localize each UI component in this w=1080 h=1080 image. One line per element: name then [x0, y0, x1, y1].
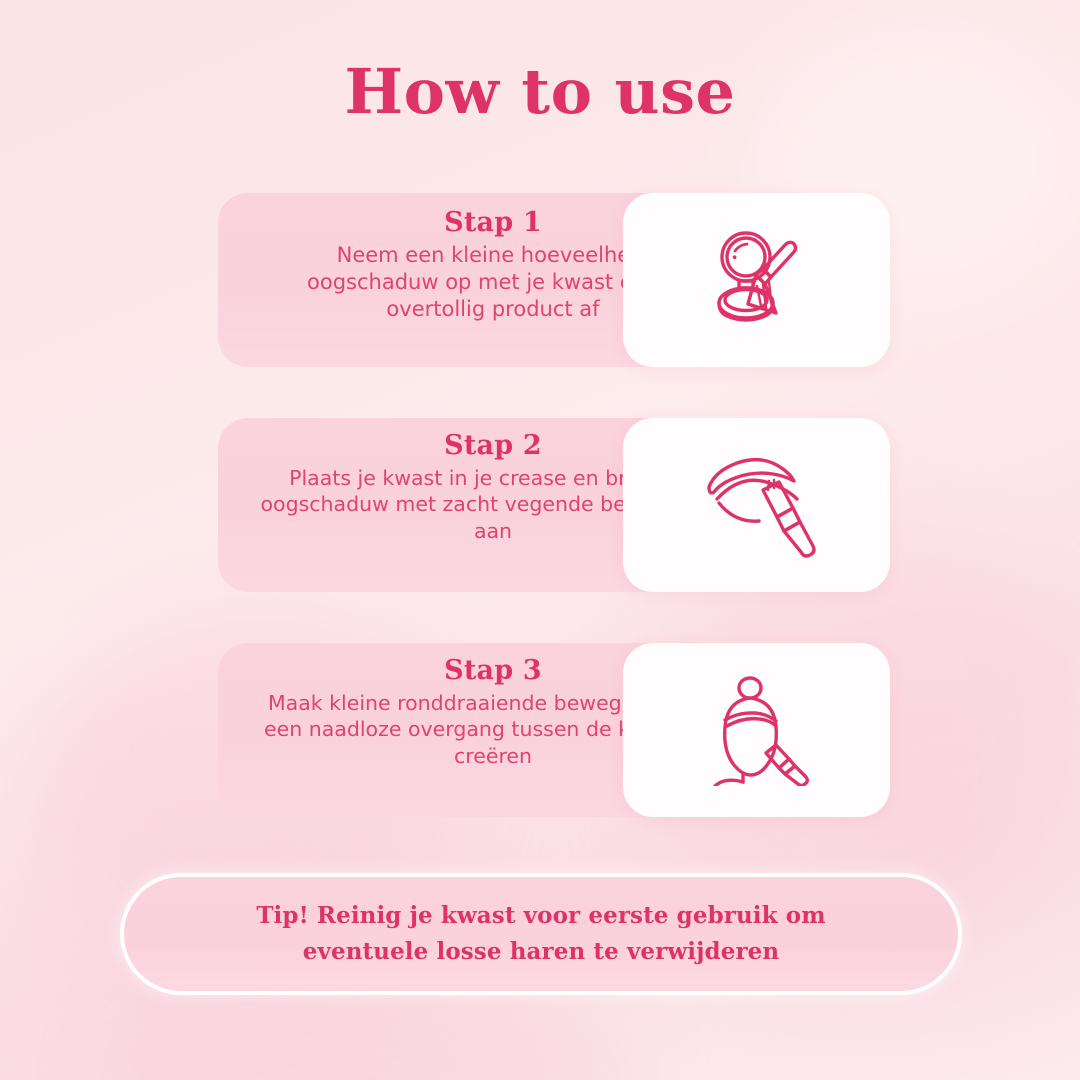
how-to-use-poster: How to use Stap 1 Neem een kleine hoevee…	[0, 0, 1080, 1080]
page-title: How to use	[0, 58, 1080, 126]
step-icon-card	[623, 193, 890, 367]
eye-brush-icon	[697, 447, 817, 563]
face-bun-brush-icon	[703, 674, 811, 786]
tip-banner: Tip! Reinig je kwast voor eerste gebruik…	[120, 873, 962, 995]
step-icon-card	[623, 643, 890, 817]
step-title: Stap 3	[444, 655, 542, 686]
step-title: Stap 1	[444, 207, 542, 238]
background-blob	[120, 980, 640, 1080]
step-title: Stap 2	[444, 430, 542, 461]
list-item: Stap 2 Plaats je kwast in je crease en b…	[218, 418, 890, 592]
tip-text: Tip! Reinig je kwast voor eerste gebruik…	[191, 898, 891, 969]
step-icon-card	[623, 418, 890, 592]
list-item: Stap 3 Maak kleine ronddraaiende bewegin…	[218, 643, 890, 817]
list-item: Stap 1 Neem een kleine hoeveelheid oogsc…	[218, 193, 890, 367]
compact-powder-brush-icon	[701, 224, 813, 336]
